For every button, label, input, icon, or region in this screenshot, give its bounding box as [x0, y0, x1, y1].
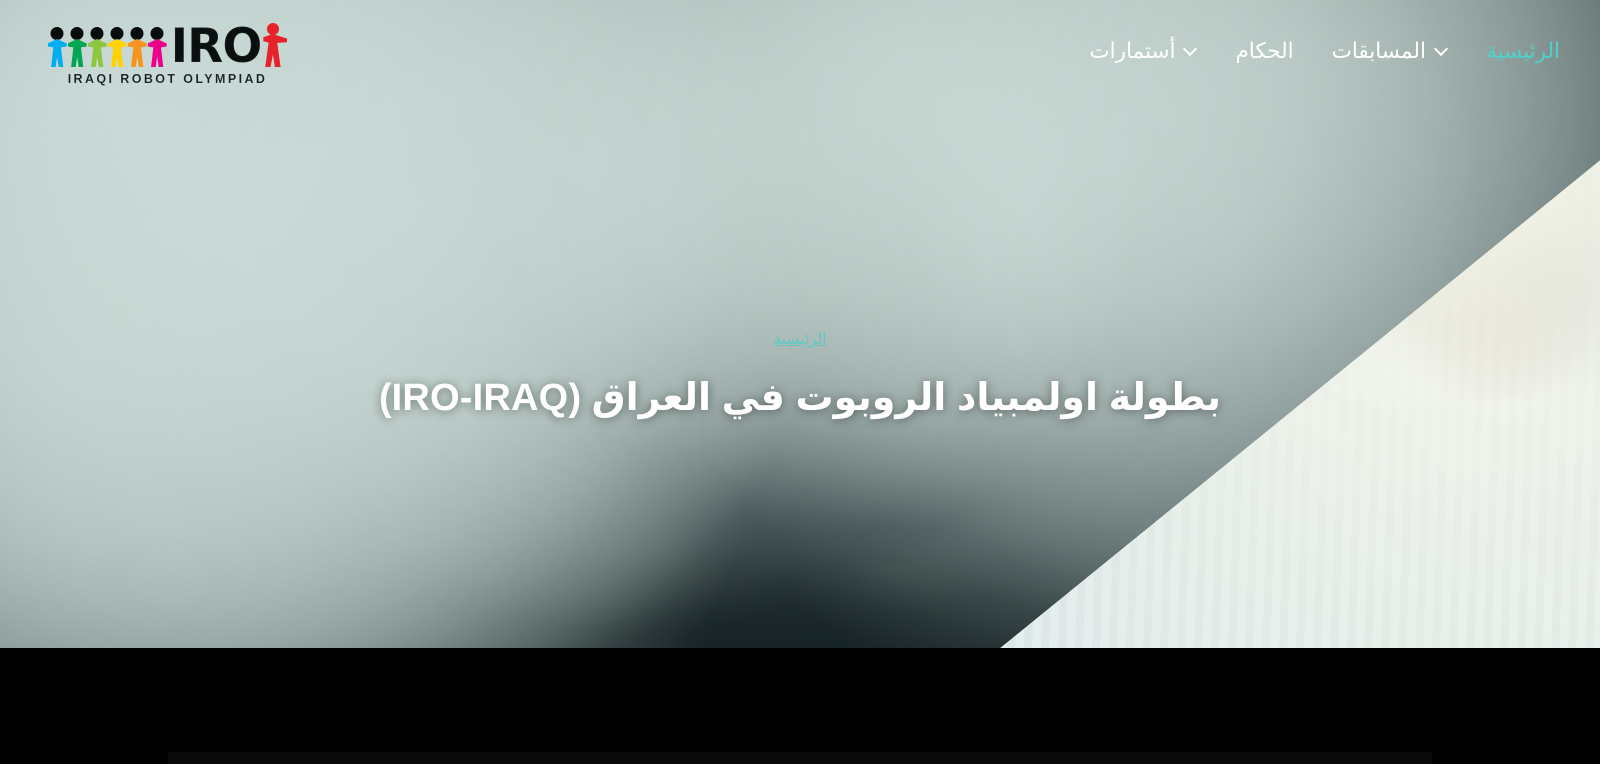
logo-person-body [263, 34, 287, 67]
logo-person-body [108, 39, 127, 67]
logo-subtitle: IRAQI ROBOT OLYMPIAD [68, 72, 268, 86]
chevron-down-icon [1184, 43, 1197, 56]
logo-person-1 [48, 27, 67, 67]
logo-person-6 [148, 27, 167, 67]
logo-person-head [151, 27, 164, 40]
nav-item-home-label: الرئيسية [1486, 39, 1560, 64]
logo-person-body [148, 39, 167, 67]
page-root: الرئيسية المسابقات الحكام أستمارات [0, 0, 1600, 764]
logo-person-head [51, 27, 64, 40]
site-logo[interactable]: IRO IRAQI ROBOT OLYMPIAD [60, 16, 275, 86]
nav-item-forms[interactable]: أستمارات [1087, 33, 1199, 70]
logo-person-body [88, 39, 107, 67]
content-section-below-hero [0, 648, 1600, 764]
logo-people-icon [48, 27, 167, 67]
logo-person-head [131, 27, 144, 40]
logo-person-red-icon [263, 23, 287, 67]
logo-person-3 [88, 27, 107, 67]
logo-person-head [91, 27, 104, 40]
logo-mark: IRO [48, 16, 288, 68]
site-header: الرئيسية المسابقات الحكام أستمارات [0, 0, 1600, 102]
logo-person-5 [128, 27, 147, 67]
logo-person-body [68, 39, 87, 67]
logo-wordmark: IRO [171, 26, 262, 68]
nav-item-forms-label: أستمارات [1089, 39, 1175, 64]
logo-person-4 [108, 27, 127, 67]
logo-person-head [111, 27, 124, 40]
nav-item-judges[interactable]: الحكام [1233, 33, 1295, 70]
logo-person-head [71, 27, 84, 40]
logo-person-2 [68, 27, 87, 67]
nav-item-judges-label: الحكام [1235, 39, 1293, 64]
nav-item-competitions[interactable]: المسابقات [1330, 33, 1450, 70]
chevron-down-icon [1435, 43, 1448, 56]
content-divider [168, 752, 1432, 764]
main-navigation: الرئيسية المسابقات الحكام أستمارات [1087, 33, 1562, 70]
nav-item-competitions-label: المسابقات [1332, 39, 1426, 64]
logo-person-body [128, 39, 147, 67]
nav-item-home[interactable]: الرئيسية [1484, 33, 1562, 70]
logo-person-head [267, 23, 279, 35]
logo-person-body [48, 39, 67, 67]
breadcrumb-item-home[interactable]: الرئيسية [773, 330, 826, 349]
